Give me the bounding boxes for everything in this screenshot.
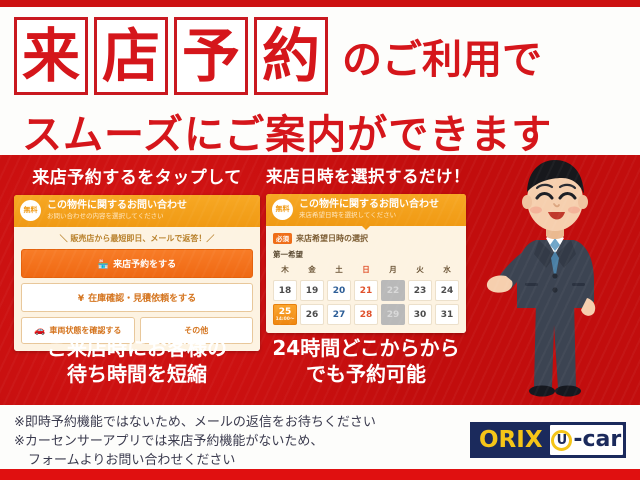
inquiry-form-body: ＼ 販売店から最短即日、メールで返答！／ 🏪来店予約をする ¥在庫確認・見積依頼… xyxy=(14,227,260,351)
calendar-day-number: 28 xyxy=(360,310,373,320)
right-caption: 24時間どこからから でも予約可能 xyxy=(266,335,466,387)
calendar-day-cell[interactable]: 30 xyxy=(408,304,432,325)
headline-tail-text: のご利用で xyxy=(342,27,542,85)
headline-boxed-char-3: 予 xyxy=(174,17,248,95)
u-circle-icon: U xyxy=(551,430,572,451)
left-caption: ご来店時にお客様の 待ち時間を短縮 xyxy=(14,335,260,387)
calendar-day-number: 18 xyxy=(279,286,292,296)
right-caption-line-1: 24時間どこからから xyxy=(266,335,466,361)
calendar-grid: 木金土日月火水181920212223242514:00〜26272829303… xyxy=(273,264,459,325)
headline-boxed-char-2: 店 xyxy=(94,17,168,95)
orix-wordmark: ORIX xyxy=(471,427,550,453)
orix-ucar-logo: ORIX U -car xyxy=(470,422,626,458)
calendar-mock-header: 無料 この物件に関するお問い合わせ 来店希望日時を選択してください xyxy=(266,194,466,226)
reserve-visit-button[interactable]: 🏪来店予約をする xyxy=(21,249,253,278)
store-icon: 🏪 xyxy=(98,260,109,270)
inquiry-form-mockup: 無料 この物件に関するお問い合わせ お問い合わせの内容を選択してください ＼ 販… xyxy=(14,195,260,351)
headline-line-2: スムーズにご案内ができます xyxy=(22,102,552,160)
yen-icon: ¥ xyxy=(78,294,84,304)
red-feature-section: 来店予約するをタップして 無料 この物件に関するお問い合わせ お問い合わせの内容… xyxy=(0,155,640,405)
calendar-day-number: 21 xyxy=(360,286,373,296)
headline-boxed-char-4: 約 xyxy=(254,17,328,95)
calendar-day-number: 23 xyxy=(414,286,427,296)
first-choice-label: 第一希望 xyxy=(273,249,459,260)
calendar-header-title: この物件に関するお問い合わせ xyxy=(299,199,460,211)
inquiry-header-title: この物件に関するお問い合わせ xyxy=(47,200,254,212)
calendar-weekday-header: 木 xyxy=(273,264,297,277)
calendar-day-cell[interactable]: 31 xyxy=(435,304,459,325)
inquiry-form-header: 無料 この物件に関するお問い合わせ お問い合わせの内容を選択してください xyxy=(14,195,260,227)
right-column-title: 来店日時を選択するだけ！ xyxy=(266,163,466,187)
calendar-header-subtitle: 来店希望日時を選択してください xyxy=(299,211,460,220)
right-feature-column: 来店日時を選択するだけ！ 無料 この物件に関するお問い合わせ 来店希望日時を選択… xyxy=(266,163,466,333)
vehicle-condition-label: 車両状態を確認する xyxy=(49,326,121,335)
calendar-day-cell[interactable]: 2514:00〜 xyxy=(273,304,297,325)
calendar-day-cell: 29 xyxy=(381,304,405,325)
calendar-day-cell[interactable]: 18 xyxy=(273,280,297,301)
calendar-mockup: 無料 この物件に関するお問い合わせ 来店希望日時を選択してください 必須 来店希… xyxy=(266,194,466,333)
calendar-day-cell[interactable]: 24 xyxy=(435,280,459,301)
ucar-text: -car xyxy=(573,428,621,452)
calendar-day-number: 24 xyxy=(441,286,454,296)
reserve-visit-label: 来店予約をする xyxy=(113,260,176,270)
inquiry-header-subtitle: お問い合わせの内容を選択してください xyxy=(47,212,254,221)
calendar-day-cell[interactable]: 19 xyxy=(300,280,324,301)
calendar-body: 必須 来店希望日時の選択 第一希望 木金土日月火水181920212223242… xyxy=(266,226,466,333)
calendar-label-row: 必須 来店希望日時の選択 xyxy=(273,233,459,244)
ucar-wordmark: U -car xyxy=(550,425,623,455)
calendar-day-number: 27 xyxy=(333,310,346,320)
calendar-day-number: 29 xyxy=(387,310,400,320)
disclaimer-note-2: ※カーセンサーアプリでは来店予約機能がないため、 xyxy=(14,432,376,451)
required-badge: 必須 xyxy=(273,233,292,244)
bottom-accent-bar xyxy=(0,469,640,480)
free-badge-calendar: 無料 xyxy=(272,199,293,220)
calendar-section-label: 来店希望日時の選択 xyxy=(296,233,368,244)
right-caption-line-2: でも予約可能 xyxy=(266,361,466,387)
free-badge: 無料 xyxy=(20,200,41,221)
calendar-day-cell[interactable]: 28 xyxy=(354,304,378,325)
calendar-weekday-header: 水 xyxy=(435,264,459,277)
stock-quote-button[interactable]: ¥在庫確認・見積依頼をする xyxy=(21,283,253,312)
calendar-day-cell[interactable]: 27 xyxy=(327,304,351,325)
calendar-day-number: 19 xyxy=(306,286,319,296)
promo-poster: 来 店 予 約 のご利用で スムーズにご案内ができます 来店予約するをタップして… xyxy=(0,0,640,480)
stock-quote-label: 在庫確認・見積依頼をする xyxy=(88,294,196,304)
top-accent-bar xyxy=(0,0,640,7)
left-feature-column: 来店予約するをタップして 無料 この物件に関するお問い合わせ お問い合わせの内容… xyxy=(14,163,260,351)
calendar-day-number: 31 xyxy=(441,310,454,320)
calendar-day-time: 14:00〜 xyxy=(276,317,295,322)
calendar-day-number: 30 xyxy=(414,310,427,320)
lead-note-text: ＼ 販売店から最短即日、メールで返答！／ xyxy=(21,233,253,244)
calendar-day-number: 20 xyxy=(333,286,346,296)
calendar-day-number: 26 xyxy=(306,310,319,320)
calendar-day-cell[interactable]: 20 xyxy=(327,280,351,301)
salesman-illustration xyxy=(484,155,624,402)
disclaimer-notes: ※即時予約機能ではないため、メールの返信をお待ちください ※カーセンサーアプリで… xyxy=(14,413,376,470)
calendar-weekday-header: 火 xyxy=(408,264,432,277)
headline-boxed-char-1: 来 xyxy=(14,17,88,95)
headline-section: 来 店 予 約 のご利用で スムーズにご案内ができます xyxy=(0,7,640,155)
calendar-weekday-header: 月 xyxy=(381,264,405,277)
left-caption-line-1: ご来店時にお客様の xyxy=(14,335,260,361)
calendar-day-cell[interactable]: 23 xyxy=(408,280,432,301)
calendar-day-cell[interactable]: 21 xyxy=(354,280,378,301)
disclaimer-note-1: ※即時予約機能ではないため、メールの返信をお待ちください xyxy=(14,413,376,432)
other-label: その他 xyxy=(184,326,208,335)
calendar-weekday-header: 金 xyxy=(300,264,324,277)
calendar-day-number: 25 xyxy=(279,307,292,317)
calendar-day-cell: 22 xyxy=(381,280,405,301)
calendar-day-number: 22 xyxy=(387,286,400,296)
left-column-title: 来店予約するをタップして xyxy=(14,163,260,188)
calendar-notch-arrow xyxy=(361,225,371,230)
disclaimer-note-3: フォームよりお問い合わせください xyxy=(14,451,376,470)
calendar-weekday-header: 土 xyxy=(327,264,351,277)
calendar-day-cell[interactable]: 26 xyxy=(300,304,324,325)
left-caption-line-2: 待ち時間を短縮 xyxy=(14,361,260,387)
calendar-weekday-header: 日 xyxy=(354,264,378,277)
headline-line-1: 来 店 予 約 のご利用で xyxy=(14,17,542,95)
